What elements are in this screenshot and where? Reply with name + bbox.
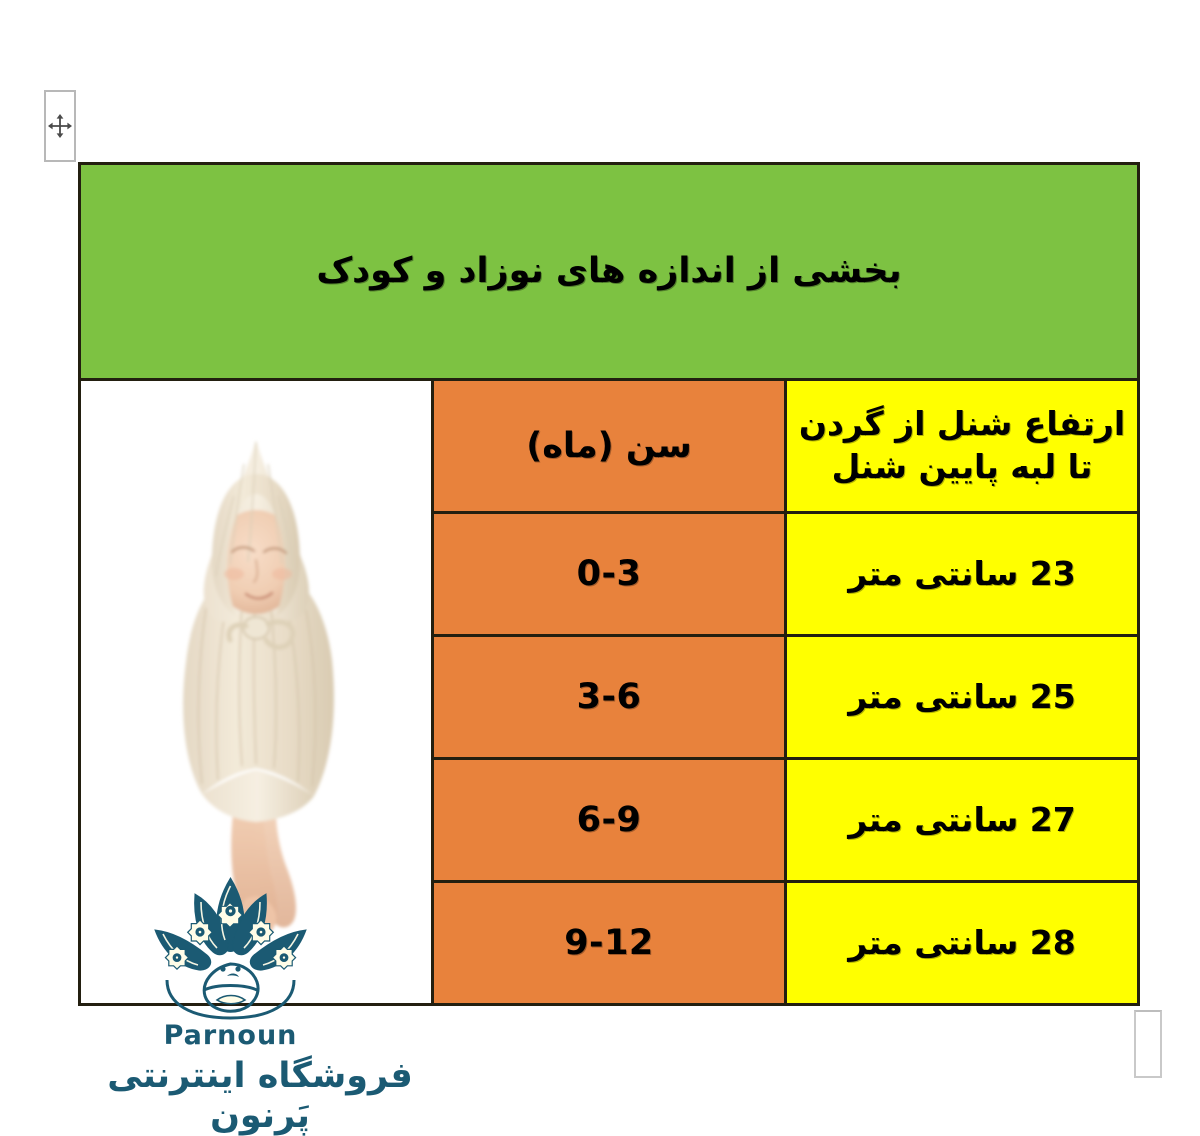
table-resize-handle[interactable] (1134, 1010, 1162, 1078)
cell-height: 27 سانتی متر (786, 759, 1139, 882)
cell-height: 25 سانتی متر (786, 636, 1139, 759)
table-title-row: بخشی از اندازه های نوزاد و کودک (80, 164, 1139, 380)
cell-height: 28 سانتی متر (786, 882, 1139, 1005)
column-header-age: سن (ماه) (433, 380, 786, 513)
cell-height: 23 سانتی متر (786, 513, 1139, 636)
table-title: بخشی از اندازه های نوزاد و کودک (80, 164, 1139, 380)
product-photo-cell (80, 380, 433, 1005)
shop-caption: فروشگاه اینترنتی پَرنون (60, 1056, 460, 1136)
cell-age: 0-3 (433, 513, 786, 636)
cell-age: 3-6 (433, 636, 786, 759)
column-header-height: ارتفاع شنل از گردن تا لبه پایین شنل (786, 380, 1139, 513)
logo-wordmark: Parnoun (143, 1020, 318, 1051)
cell-age: 6-9 (433, 759, 786, 882)
table-move-handle[interactable] (44, 90, 76, 162)
table-header-row: ارتفاع شنل از گردن تا لبه پایین شنل سن (… (80, 380, 1139, 513)
cell-age: 9-12 (433, 882, 786, 1005)
move-four-arrows-icon (47, 113, 73, 139)
baby-cape-photo (81, 383, 431, 1001)
baby-size-table: بخشی از اندازه های نوزاد و کودک ارتفاع ش… (78, 162, 1140, 1006)
